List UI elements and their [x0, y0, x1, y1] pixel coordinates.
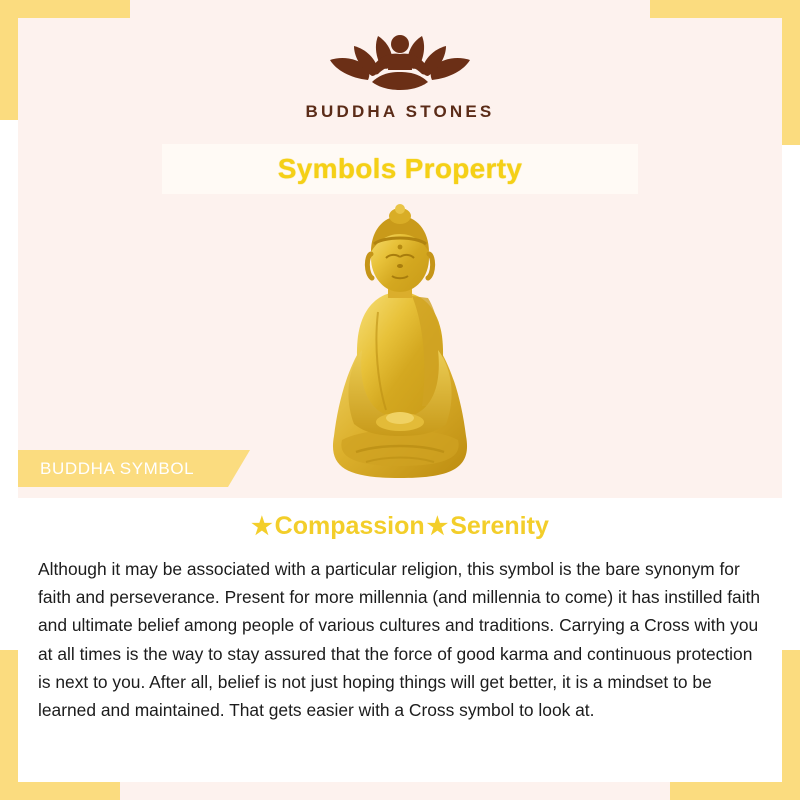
- title-band: Symbols Property: [162, 144, 638, 194]
- brand-header: BUDDHA STONES: [0, 18, 800, 122]
- content-panel: ★ Compassion ★ Serenity Although it may …: [18, 498, 782, 782]
- decor-ribbon-top-left-horizontal: [0, 0, 130, 18]
- decor-ribbon-bottom-right-horizontal: [670, 782, 800, 800]
- body-paragraph: Although it may be associated with a par…: [30, 555, 770, 724]
- decor-ribbon-bottom-left-vertical: [0, 650, 18, 800]
- poster-page: BUDDHA STONES Symbols Property: [0, 0, 800, 800]
- brand-name: BUDDHA STONES: [306, 102, 495, 122]
- buddha-symbol-tag-label: BUDDHA SYMBOL: [40, 459, 194, 479]
- lotus-meditation-figure-icon: [310, 18, 490, 96]
- headline-word-compassion: Compassion: [275, 512, 425, 541]
- star-icon-left: ★: [251, 515, 273, 539]
- artwork-container: [0, 200, 800, 490]
- buddha-symbol-tag: BUDDHA SYMBOL: [18, 450, 250, 487]
- page-title: Symbols Property: [278, 153, 522, 185]
- star-icon-middle: ★: [427, 515, 449, 539]
- golden-buddha-illustration: [282, 200, 518, 490]
- decor-ribbon-top-right-horizontal: [650, 0, 800, 18]
- decor-ribbon-bottom-right-vertical: [782, 650, 800, 800]
- decor-ribbon-bottom-left-horizontal: [0, 782, 120, 800]
- headline: ★ Compassion ★ Serenity: [30, 512, 770, 541]
- headline-word-serenity: Serenity: [450, 512, 549, 541]
